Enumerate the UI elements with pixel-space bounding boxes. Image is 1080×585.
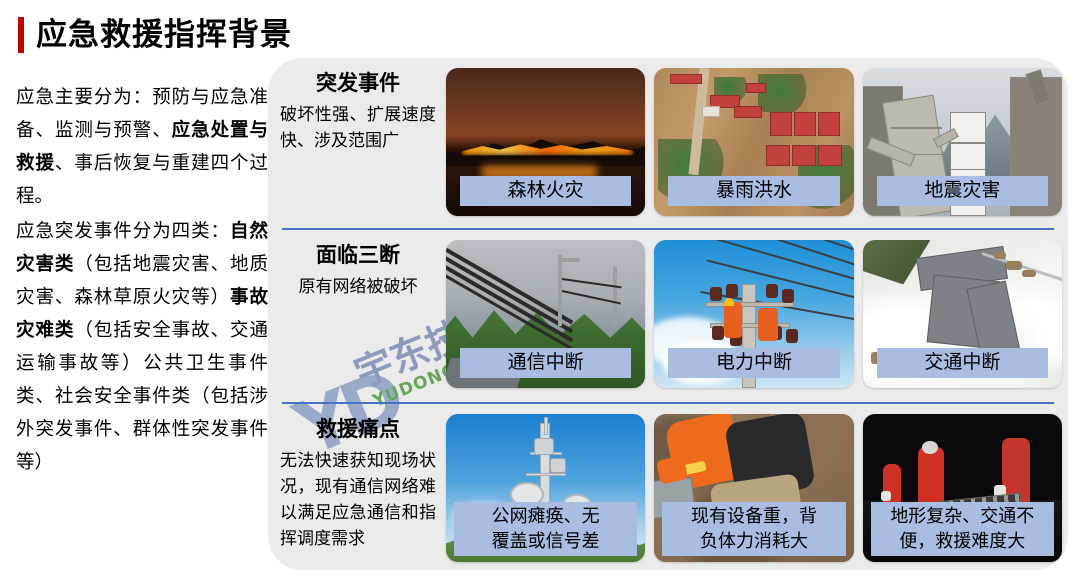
card-traffic-outage[interactable]: 交通中断 [863, 240, 1062, 388]
card-power-outage[interactable]: 电力中断 [654, 240, 853, 388]
para2-seg3: （包括安全事故、交通运输事故等）公共卫生事件类、社会安全事件类（包括涉外突发事件… [16, 319, 268, 472]
caption-network-down: 公网瘫痪、无 覆盖或信号差 [454, 502, 637, 556]
para2-seg1: 应急突发事件分为四类： [16, 220, 230, 241]
content-panel: YD 宇东技术 YUDONG JISHU 突发事件 破坏性强、扩展速度快、涉及范… [268, 58, 1068, 570]
paragraph-2: 应急突发事件分为四类：自然灾害类（包括地震灾害、地质灾害、森林草原火灾等）事故灾… [16, 214, 268, 478]
left-text-column: 应急主要分为：预防与应急准备、监测与预警、应急处置与救援、事后恢复与重建四个过程… [16, 80, 268, 478]
row-3-description: 无法快速获知现场状况，现有通信网络难以满足应急通信和指挥调度需求 [280, 448, 436, 552]
row-three-outages: 面临三断 原有网络被破坏 [268, 230, 1068, 402]
row-2-label: 面临三断 原有网络被破坏 [268, 230, 446, 402]
row-emergency-events: 突发事件 破坏性强、扩展速度快、涉及范围广 森林火灾 [268, 58, 1068, 228]
card-flood[interactable]: 暴雨洪水 [654, 68, 853, 216]
row-1-heading: 突发事件 [280, 70, 436, 98]
caption-flood: 暴雨洪水 [668, 176, 839, 206]
card-forest-fire[interactable]: 森林火灾 [446, 68, 645, 216]
title-text: 应急救援指挥背景 [36, 17, 292, 53]
card-network-down[interactable]: 公网瘫痪、无 覆盖或信号差 [446, 414, 645, 562]
row-2-heading: 面临三断 [280, 242, 436, 270]
page-title: 应急救援指挥背景 [18, 17, 292, 53]
card-earthquake[interactable]: 地震灾害 [863, 68, 1062, 216]
row-1-description: 破坏性强、扩展速度快、涉及范围广 [280, 102, 436, 154]
caption-power-outage: 电力中断 [668, 348, 839, 378]
caption-comm-outage: 通信中断 [460, 348, 631, 378]
paragraph-1: 应急主要分为：预防与应急准备、监测与预警、应急处置与救援、事后恢复与重建四个过程… [16, 80, 268, 212]
row-3-cards: 公网瘫痪、无 覆盖或信号差 现有设备重，背 负体力消耗大 [446, 404, 1068, 570]
slide-root: 应急救援指挥背景 应急主要分为：预防与应急准备、监测与预警、应急处置与救援、事后… [0, 0, 1080, 585]
caption-forest-fire: 森林火灾 [460, 176, 631, 206]
caption-heavy-equipment: 现有设备重，背 负体力消耗大 [662, 502, 845, 556]
caption-difficult-terrain: 地形复杂、交通不 便，救援难度大 [871, 502, 1054, 556]
caption-earthquake: 地震灾害 [877, 176, 1048, 206]
row-3-heading: 救援痛点 [280, 416, 436, 444]
row-1-label: 突发事件 破坏性强、扩展速度快、涉及范围广 [268, 58, 446, 228]
row-2-description: 原有网络被破坏 [280, 274, 436, 300]
row-1-cards: 森林火灾 [446, 58, 1068, 228]
card-comm-outage[interactable]: 通信中断 [446, 240, 645, 388]
row-3-label: 救援痛点 无法快速获知现场状况，现有通信网络难以满足应急通信和指挥调度需求 [268, 404, 446, 570]
caption-traffic-outage: 交通中断 [877, 348, 1048, 378]
card-heavy-equipment[interactable]: 现有设备重，背 负体力消耗大 [654, 414, 853, 562]
row-rescue-painpoints: 救援痛点 无法快速获知现场状况，现有通信网络难以满足应急通信和指挥调度需求 [268, 404, 1068, 570]
title-accent-bar [18, 17, 24, 53]
card-difficult-terrain[interactable]: 地形复杂、交通不 便，救援难度大 [863, 414, 1062, 562]
row-2-cards: 通信中断 [446, 230, 1068, 402]
